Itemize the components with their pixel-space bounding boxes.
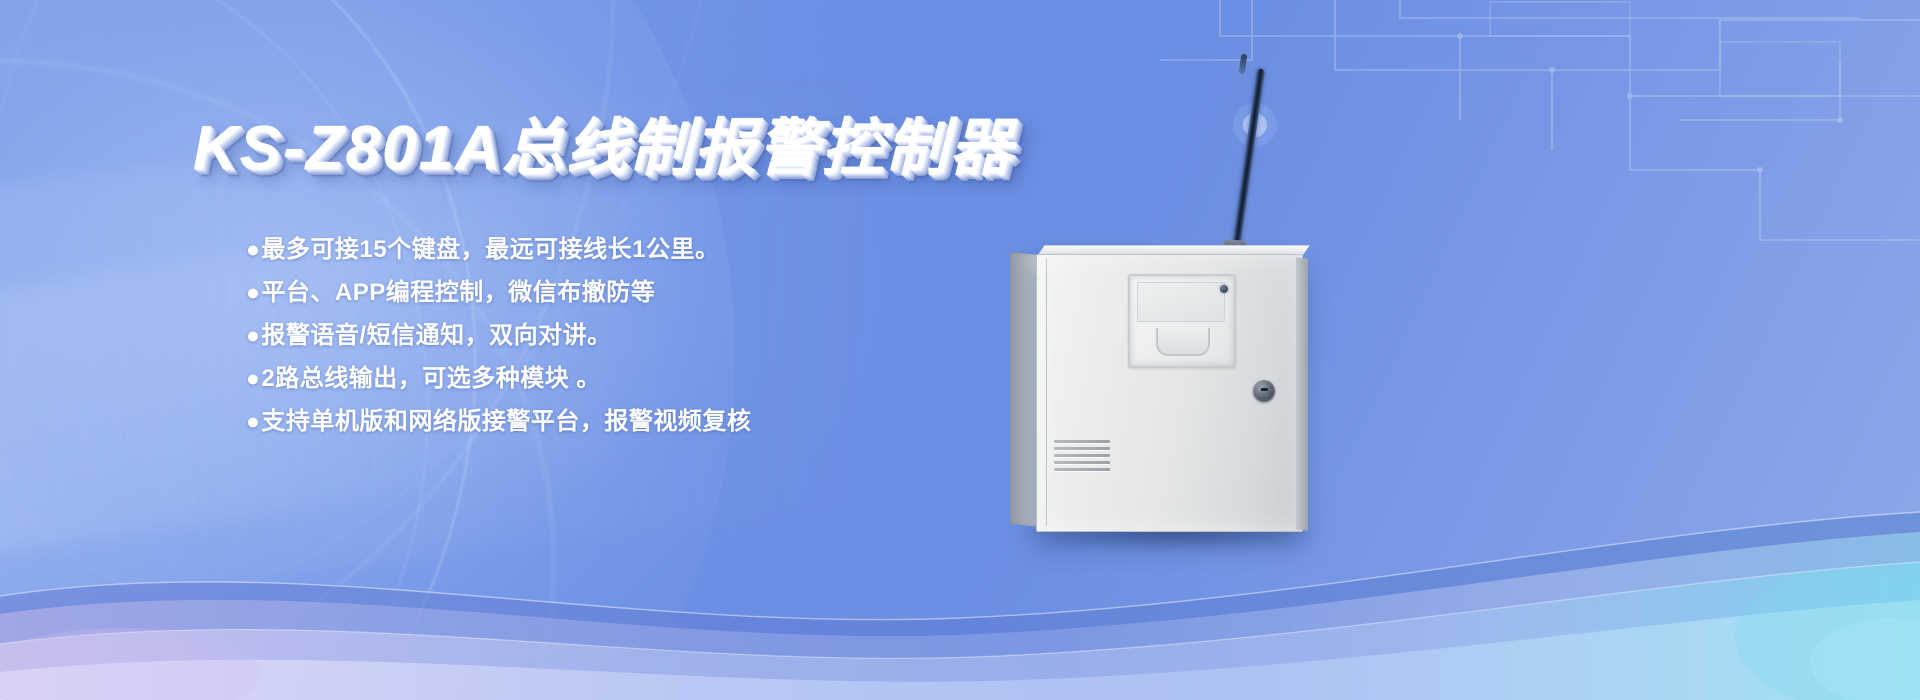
vent-slot bbox=[1054, 440, 1110, 443]
vent-slot bbox=[1054, 461, 1110, 464]
bullet-dot-icon: ● bbox=[246, 281, 260, 304]
feature-text: 最多可接15个键盘，最远可接线长1公里。 bbox=[261, 238, 1076, 262]
antenna bbox=[1232, 68, 1265, 247]
bullet-dot-icon: ● bbox=[246, 410, 260, 433]
display-panel bbox=[1137, 282, 1225, 322]
device-right-edge bbox=[1296, 257, 1308, 530]
list-item: ● 平台、APP编程控制，微信布撤防等 bbox=[246, 281, 1076, 305]
key-lock-icon bbox=[1253, 380, 1275, 402]
status-led-icon bbox=[1220, 285, 1228, 293]
vent-slot bbox=[1054, 468, 1110, 471]
bullet-dot-icon: ● bbox=[246, 367, 260, 390]
feature-text: 平台、APP编程控制，微信布撤防等 bbox=[261, 281, 1076, 305]
window-handle bbox=[1156, 328, 1210, 356]
page-title: KS-Z801A总线制报警控制器 bbox=[193, 118, 1014, 180]
vent-slot bbox=[1054, 447, 1110, 450]
feature-text: 支持单机版和网络版接警平台，报警视频复核 bbox=[261, 410, 1076, 434]
product-image-alarm-control-panel bbox=[1010, 232, 1340, 532]
list-item: ● 2路总线输出，可选多种模块 。 bbox=[246, 367, 1076, 391]
antenna-tip bbox=[1239, 54, 1248, 75]
list-item: ● 最多可接15个键盘，最远可接线长1公里。 bbox=[246, 238, 1076, 262]
key-lock-slot bbox=[1261, 388, 1268, 391]
list-item: ● 报警语音/短信通知，双向对讲。 bbox=[246, 324, 1076, 348]
list-item: ● 支持单机版和网络版接警平台，报警视频复核 bbox=[246, 410, 1076, 434]
product-banner: KS-Z801A总线制报警控制器 ● 最多可接15个键盘，最远可接线长1公里。 … bbox=[0, 0, 1920, 700]
bullet-dot-icon: ● bbox=[246, 238, 260, 261]
feature-text: 报警语音/短信通知，双向对讲。 bbox=[261, 324, 1076, 348]
bullet-dot-icon: ● bbox=[246, 324, 260, 347]
vent-slot bbox=[1054, 454, 1110, 457]
device-door-seam bbox=[1046, 258, 1047, 526]
ventilation-slots bbox=[1054, 440, 1110, 476]
feature-list: ● 最多可接15个键盘，最远可接线长1公里。 ● 平台、APP编程控制，微信布撤… bbox=[246, 238, 1076, 453]
feature-text: 2路总线输出，可选多种模块 。 bbox=[261, 367, 1076, 391]
keypad-display-window bbox=[1128, 274, 1236, 368]
